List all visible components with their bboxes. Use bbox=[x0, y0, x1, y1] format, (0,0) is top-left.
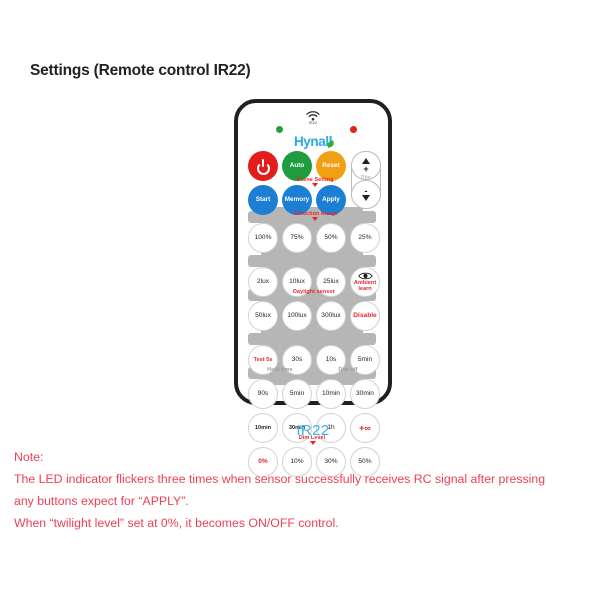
detection-range-arrow-icon bbox=[312, 217, 318, 221]
key-detection-25[interactable]: 25% bbox=[350, 223, 380, 253]
eye-icon bbox=[358, 272, 373, 280]
page-title: Settings (Remote control IR22) bbox=[30, 62, 251, 80]
label-hold-time: Hold time bbox=[248, 367, 312, 373]
key-daylight-300lux[interactable]: 300lux bbox=[316, 301, 346, 331]
power-button[interactable] bbox=[248, 151, 278, 181]
minus-icon: - bbox=[365, 189, 368, 194]
key-daylight-50lux[interactable]: 50lux bbox=[248, 301, 278, 331]
scene-setting-arrow-icon bbox=[312, 183, 318, 187]
key-dimoff-10min[interactable]: 10min bbox=[316, 379, 346, 409]
device-caption: IR22 bbox=[234, 422, 392, 439]
key-hold-5min[interactable]: 5min bbox=[282, 379, 312, 409]
label-daylight-sensor: Daylight sensor bbox=[276, 289, 352, 295]
notes-line-1: The LED indicator flickers three times w… bbox=[14, 468, 594, 490]
power-icon bbox=[256, 159, 271, 174]
key-daylight-2lux[interactable]: 2lux bbox=[248, 267, 278, 297]
start-button[interactable]: Start bbox=[248, 185, 278, 215]
notes-heading: Note: bbox=[14, 446, 594, 468]
triangle-down-icon bbox=[362, 195, 370, 201]
key-detection-100[interactable]: 100% bbox=[248, 223, 278, 253]
key-ambient-learn-label: Ambient learn bbox=[351, 280, 379, 293]
key-detection-75[interactable]: 75% bbox=[282, 223, 312, 253]
label-dim-off: Dim off bbox=[316, 367, 380, 373]
key-daylight-100lux[interactable]: 100lux bbox=[282, 301, 312, 331]
dim-rocker-label: Dim bbox=[351, 175, 381, 181]
dim-down-button[interactable]: - bbox=[351, 180, 381, 209]
notes-block: Note: The LED indicator flickers three t… bbox=[14, 446, 594, 534]
key-detection-50[interactable]: 50% bbox=[316, 223, 346, 253]
key-hold-90s[interactable]: 90s bbox=[248, 379, 278, 409]
keypad: Auto Reset + - Dim Start Memory Apply Sc… bbox=[238, 103, 388, 401]
notes-line-3: When “twilight level” set at 0%, it beco… bbox=[14, 512, 594, 534]
dim-level-arrow-icon bbox=[310, 441, 316, 445]
plus-icon: + bbox=[363, 165, 368, 173]
key-daylight-disable[interactable]: Disable bbox=[350, 301, 380, 331]
key-dimoff-30min[interactable]: 30min bbox=[350, 379, 380, 409]
remote-body: IR22 Hynall Auto Reset + bbox=[234, 99, 392, 405]
remote-control-ir22: IR22 Hynall Auto Reset + bbox=[234, 99, 392, 405]
notes-line-2: any buttons expect for “APPLY”. bbox=[14, 490, 594, 512]
key-ambient-learn[interactable]: Ambient learn bbox=[350, 267, 380, 297]
